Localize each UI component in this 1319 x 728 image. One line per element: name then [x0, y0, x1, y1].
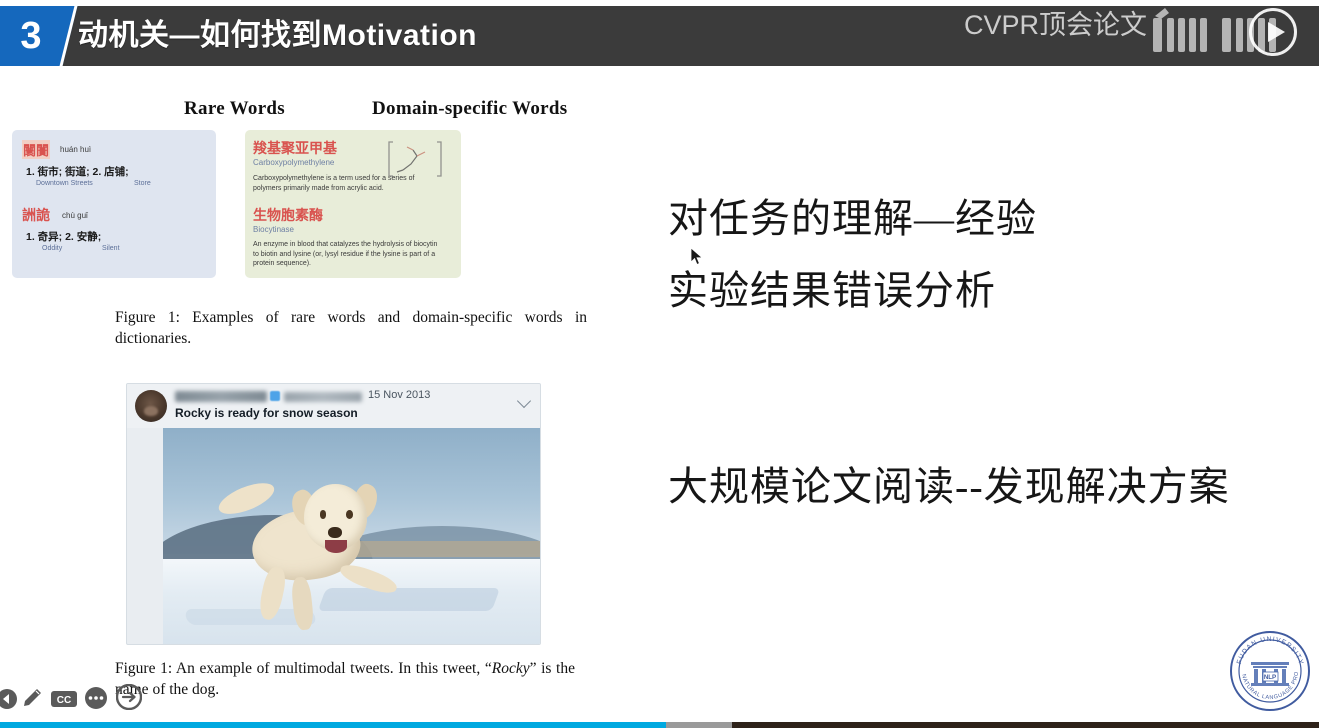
caption-bottom-quote: Rocky: [492, 660, 530, 677]
cc-label: CC: [57, 695, 71, 706]
rare-entry-1-senses: 1. 街市; 街道; 2. 店铺;: [26, 164, 129, 179]
rare-words-heading: Rare Words: [184, 98, 285, 120]
avatar: [135, 390, 167, 422]
page-title: 动机关—如何找到Motivation: [78, 14, 477, 58]
bilibili-tv-watermark-icon: [1201, 552, 1297, 636]
rare-entry-1-gloss-1: Downtown Streets: [36, 180, 93, 187]
chevron-down-icon[interactable]: [519, 396, 530, 407]
rare-entry-2-gloss-2: Silent: [102, 245, 120, 252]
note-line-3: 大规模论文阅读--发现解决方案: [668, 454, 1230, 512]
tweet-photo: [163, 428, 541, 645]
caption-bottom-part1: Figure 1: An example of multimodal tweet…: [115, 660, 480, 677]
domain-words-box: 羧基聚亚甲基 Carboxypolymethylene Carboxypolym…: [245, 130, 461, 278]
domain-words-heading: Domain-specific Words: [372, 98, 567, 120]
chemical-structure-icon: [387, 138, 443, 180]
header-number: 3: [8, 12, 54, 60]
tweet-date: 15 Nov 2013: [368, 389, 430, 401]
mouse-cursor-icon: [690, 247, 704, 267]
paper-figures-column: Rare Words Domain-specific Words 闤闠 huán…: [0, 70, 620, 690]
channel-watermark: CVPR顶会论文: [964, 8, 1147, 42]
rare-words-box: 闤闠 huán huì 1. 街市; 街道; 2. 店铺; Downtown S…: [12, 130, 216, 278]
rare-entry-1-headword: 闤闠: [22, 140, 50, 159]
previous-button[interactable]: [0, 688, 18, 715]
seal-center-text: NLP: [1264, 674, 1276, 681]
cc-button[interactable]: CC: [50, 688, 78, 715]
tweet-card: 15 Nov 2013 Rocky is ready for snow seas…: [126, 383, 541, 645]
rare-entry-2-gloss-1: Oddity: [42, 245, 62, 252]
figure-1-caption-top: Figure 1: Examples of rare words and dom…: [115, 307, 587, 349]
domain-entry-1-english: Carboxypolymethylene: [253, 158, 334, 167]
rare-entry-2-senses: 1. 奇异; 2. 安静;: [26, 229, 101, 244]
play-button-watermark-icon: [1249, 8, 1297, 56]
dog-figure: [224, 467, 398, 633]
rare-entry-2-pinyin: chù guǐ: [62, 211, 88, 220]
verified-badge-icon: [270, 391, 280, 401]
domain-entry-2-headword: 生物胞素酶: [253, 205, 323, 225]
tweet-handle-redacted: [284, 392, 362, 402]
domain-entry-2-description: An enzyme in blood that catalyzes the hy…: [253, 240, 443, 269]
note-line-2: 实验结果错误分析: [668, 258, 996, 316]
domain-entry-2-english: Biocytinase: [253, 225, 294, 234]
slide-screenshot: 3 动机关—如何找到Motivation CVPR顶会论文 Rare Words: [0, 0, 1319, 728]
domain-entry-1-headword: 羧基聚亚甲基: [253, 138, 337, 158]
tweet-header: 15 Nov 2013 Rocky is ready for snow seas…: [127, 384, 541, 428]
tweet-text: Rocky is ready for snow season: [175, 406, 358, 420]
progress-fill: [0, 722, 666, 728]
rare-entry-1-gloss-2: Store: [134, 180, 151, 187]
rare-entry-1-pinyin: huán huì: [60, 145, 91, 154]
pen-button[interactable]: [20, 686, 44, 715]
more-button[interactable]: [84, 686, 108, 715]
next-button[interactable]: [116, 684, 142, 715]
rare-entry-2-headword: 詶詭: [22, 205, 50, 225]
player-control-bar: CC: [0, 686, 1319, 718]
tweet-author-name-redacted: [175, 391, 267, 402]
progress-bar-track[interactable]: [0, 722, 1319, 728]
note-line-1: 对任务的理解—经验: [668, 186, 1037, 244]
